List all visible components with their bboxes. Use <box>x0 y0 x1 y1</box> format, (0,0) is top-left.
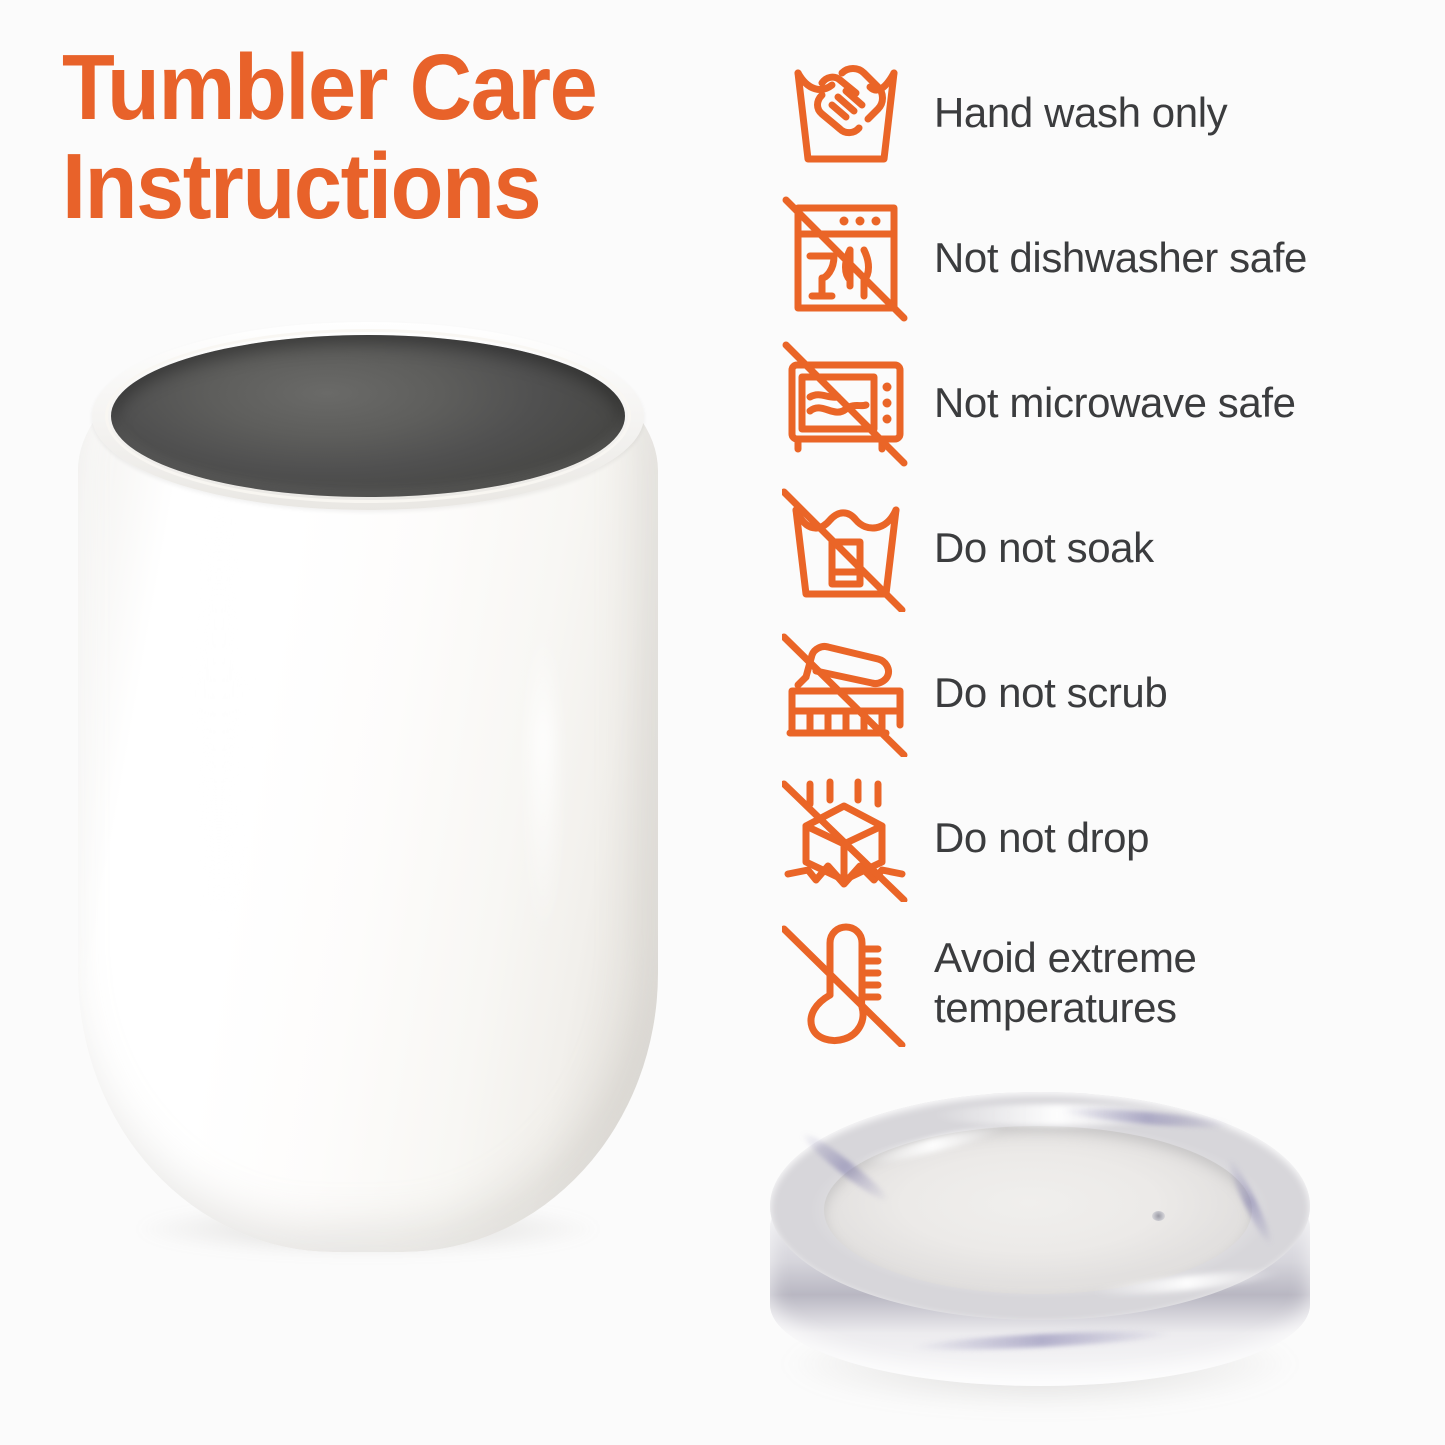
care-item-scrub: Do not scrub <box>782 620 1402 765</box>
care-item-label-line-1: Do not scrub <box>934 669 1167 716</box>
care-item-label-line-1: Do not drop <box>934 814 1149 861</box>
dishwasher-icon <box>782 194 910 322</box>
tumbler-product-image <box>78 322 658 1252</box>
soak-icon <box>782 484 910 612</box>
care-item-label: Hand wash only <box>934 88 1227 138</box>
care-item-label-line-1: Hand wash only <box>934 89 1227 136</box>
page-title-line-2: Instructions <box>62 137 713 236</box>
lid-product-image <box>762 1086 1318 1426</box>
hand-wash-icon <box>782 49 910 177</box>
care-item-soak: Do not soak <box>782 475 1402 620</box>
page-title: Tumbler Care Instructions <box>62 38 762 236</box>
care-item-label: Do not drop <box>934 813 1149 863</box>
care-instruction-list: Hand wash only <box>782 40 1402 1055</box>
drop-box-icon <box>782 774 910 902</box>
care-item-temperature: Avoid extreme temperatures <box>782 910 1402 1055</box>
tumbler-inner-lip-edge <box>105 329 631 503</box>
care-item-label-line-1: Avoid extreme <box>934 934 1197 981</box>
microwave-icon <box>782 339 910 467</box>
care-item-label-line-1: Not dishwasher safe <box>934 234 1307 281</box>
page-title-line-1: Tumbler Care <box>62 38 713 137</box>
care-item-label: Not microwave safe <box>934 378 1296 428</box>
thermometer-icon <box>782 919 910 1047</box>
tumbler-gloss-highlight-left <box>196 472 242 932</box>
care-item-label-line-1: Do not soak <box>934 524 1154 571</box>
care-item-dishwasher: Not dishwasher safe <box>782 185 1402 330</box>
lid-vent-hole <box>1152 1211 1165 1221</box>
care-item-hand-wash: Hand wash only <box>782 40 1402 185</box>
care-item-label-line-1: Not microwave safe <box>934 379 1296 426</box>
care-item-label: Not dishwasher safe <box>934 233 1307 283</box>
care-item-label-line-2: temperatures <box>934 983 1197 1033</box>
tumbler-care-infographic: Tumbler Care Instructions Han <box>0 0 1445 1445</box>
care-item-microwave: Not microwave safe <box>782 330 1402 475</box>
care-item-drop: Do not drop <box>782 765 1402 910</box>
tumbler-gloss-highlight-right <box>530 622 556 952</box>
care-item-label: Do not soak <box>934 523 1154 573</box>
scrub-brush-icon <box>782 629 910 757</box>
care-item-label: Do not scrub <box>934 668 1167 718</box>
care-item-label: Avoid extreme temperatures <box>934 933 1197 1033</box>
